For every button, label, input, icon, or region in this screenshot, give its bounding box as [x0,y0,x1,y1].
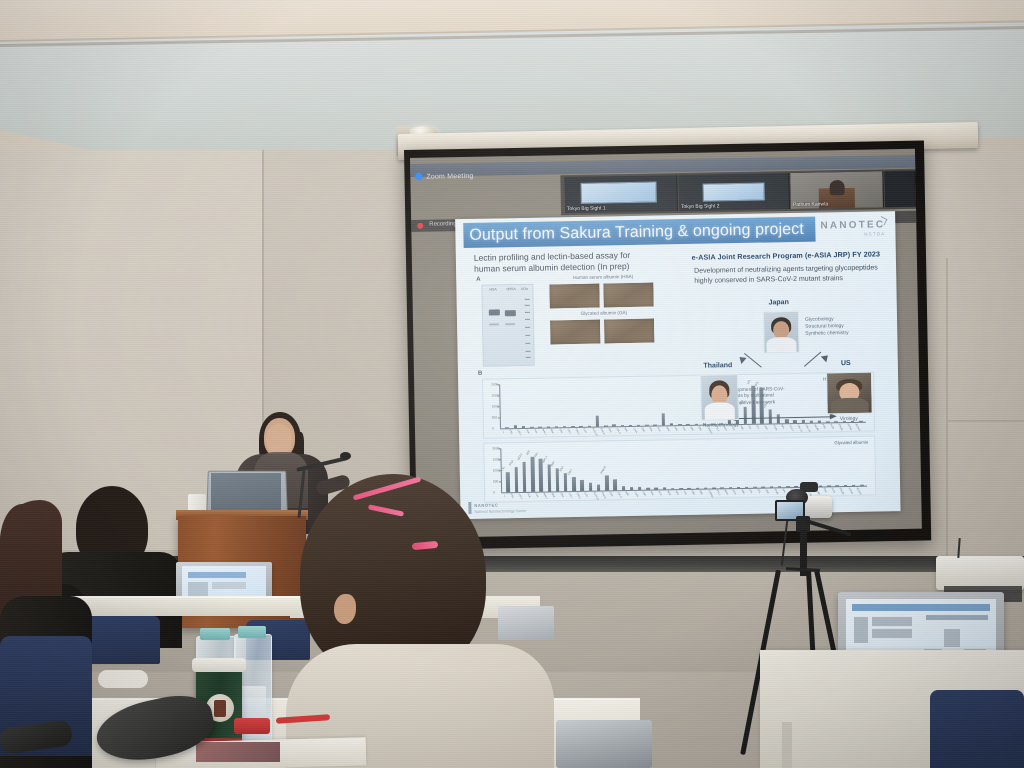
zoom-app-icon [415,173,422,180]
ladder-tick [525,343,530,344]
podium-laptop-screen [211,473,281,512]
bar [580,480,584,491]
y-tick-mark [497,384,499,385]
x-tick-label: NPA [624,427,629,433]
bar [645,425,648,426]
wall-seam [946,258,948,558]
x-tick-label: PHA-E [600,492,606,500]
x-tick-label: HHL [650,491,655,497]
x-tick-label: VVA [683,490,688,495]
photo-thailand-researcher [700,374,739,421]
y-tick-mark [497,395,499,396]
y-tick-mark [498,406,500,407]
ladder-tick [525,327,530,328]
microarray-group-title: Human serum albumin (HSA) [548,273,658,280]
microarray-panel [603,318,655,345]
bar [613,480,617,491]
mini-slide-block [872,629,912,638]
bar [661,413,665,425]
y-tick-mark [498,448,500,449]
recording-status-label: Recording [429,221,456,228]
red-desk-item [234,718,270,734]
x-tick-label: GNA [641,491,646,497]
bar [596,416,600,427]
bar [505,427,508,428]
x-tick-label: TJA-I [566,428,571,434]
coffee-cup-lid [192,658,246,672]
bar [579,426,582,427]
x-tick-label: ECA [584,492,589,498]
mini-slide-block [944,629,960,647]
x-tick-label: UEA-I [518,493,524,500]
bar [588,426,591,427]
photo-japan-researcher [763,311,800,354]
chair [84,616,160,664]
bar [514,467,518,492]
bar [564,473,568,491]
x-tick-label: PSA [510,493,515,499]
bar [522,462,526,492]
collaboration-diagram: Japan Glycobiology Structural biology Sy… [689,297,891,501]
y-tick-mark [499,481,501,482]
slide-footer-accent [468,502,471,514]
mini-slide-title-band [852,604,990,611]
bar [646,488,649,490]
us-expertise-caption: Virology [819,415,879,422]
mini-slide-on-screen [188,572,246,578]
bar [538,427,541,428]
video-tile[interactable]: Tokyo Big Sight 2 [678,173,790,211]
x-tick-label: PHA-L [574,428,580,436]
x-tick-label: UEA-I [517,429,523,436]
x-tick-label: SNA [551,492,556,498]
presenter-face [266,424,292,455]
shoulders [704,402,735,419]
x-tick-label: LTL [504,493,506,498]
bar [655,488,658,490]
arrow-thailand-us [735,416,831,419]
bar [679,488,682,489]
bar [571,426,574,427]
video-participant-filmstrip: Tokyo Big Sight 1 Tokyo Big Sight 2 Path… [560,169,916,215]
x-tick-label: ECA [583,428,588,434]
projector [936,556,1024,590]
bullet-item: Synthetic chemistry [805,329,877,337]
table-leg [782,722,792,768]
x-tick-label: DSA [608,491,613,497]
x-tick-label: RCA120 [592,492,599,501]
presentation-slide: Output from Sakura Training & ongoing pr… [455,211,900,519]
photo-us-researcher [826,372,873,415]
bar [605,475,609,490]
ladder-tick [525,319,530,320]
x-tick-label: ACA [658,490,663,496]
country-label-japan: Japan [751,299,807,307]
bar [671,488,674,489]
bar [630,487,634,490]
ladder-tick [525,312,530,313]
country-label-thailand: Thailand [690,362,746,370]
ladder-tick [526,357,531,358]
bar-value-label: SNA [550,460,556,467]
bottle-cap [200,628,230,640]
bar [555,427,558,428]
printed-photo [196,742,280,762]
bar [572,477,576,491]
shoulders [831,397,869,413]
bar-value-label: TJA-I [566,468,573,476]
nanotec-wordmark: NANOTEC [820,219,885,231]
gel-electrophoresis-image: HSA dHSA kDa [481,284,534,367]
bar [531,457,535,492]
bar-value-label: PSA [508,459,514,466]
shared-screen-thumb [580,182,656,204]
slide-footer-tagline: National Nanotechnology Center [474,509,526,514]
x-tick-label: SNA [550,428,555,434]
microarray-panel [548,283,600,310]
bar [678,424,681,425]
x-tick-label: ACA [657,426,662,432]
bar [530,427,533,428]
bottle-cap [238,626,266,638]
microarray-panel [602,282,654,309]
x-tick-label: LTL [503,429,505,434]
bar [506,472,510,492]
y-tick-label: 0 [493,491,495,495]
foreground-laptop[interactable] [556,720,652,768]
bar [622,486,626,490]
mini-slide-block [212,582,246,589]
bar [620,425,623,426]
speaker-in-feed [829,180,845,195]
x-tick-label: AAL [534,493,539,498]
mini-slide-block [872,617,912,626]
bar [597,485,601,491]
bar [653,425,656,426]
ladder-tick [526,351,531,352]
bar-value-label: AOL [525,449,531,456]
mini-slide-block [926,615,988,620]
easia-program-title: e-ASIA Joint Research Program (e-ASIA JR… [688,249,884,262]
bar [589,483,593,491]
x-tick-label: GNA [640,427,645,433]
bar [629,425,632,426]
projection-screen-surface: Zoom Meeting Tokyo Big Sight 1 Tokyo Big… [410,149,922,538]
y-tick-mark [499,459,501,460]
gel-ladder-unit: kDa [521,287,527,291]
shared-screen-thumb [703,182,765,202]
bar [522,426,525,428]
gel-band-faint [505,323,515,325]
x-tick-label: NPA [625,491,630,497]
bar [514,425,518,428]
country-label-us: US [818,360,874,368]
gel-lane-label: dHSA [506,287,515,291]
bar [687,488,690,489]
x-tick-label: ConA [633,491,639,498]
left-column-heading: Lectin profiling and lectin-based assay … [474,249,674,275]
x-tick-label: ConA [632,427,638,434]
panel-b-label: B [478,371,482,377]
x-tick-label: VVA [681,426,686,431]
x-tick-label: HHL [648,427,653,433]
x-tick-label: RCA120 [591,428,598,437]
bar [637,425,640,426]
gel-band-faint [489,323,499,325]
x-tick-label: MAL-I [541,429,547,436]
bar-value-label: MAL-I [541,455,548,463]
microphone-head [340,452,351,460]
conference-room-photo: Zoom Meeting Tokyo Big Sight 1 Tokyo Big… [0,0,1024,768]
x-tick-label: PHA-E [599,428,605,436]
project-description: Development of neutralizing agents targe… [694,263,882,285]
microarray-panel [549,319,601,346]
bar-value-label: AAL [533,451,539,458]
y-tick-mark [499,470,501,471]
x-tick-label: DSA [607,427,612,433]
bar [638,487,642,490]
x-tick-label: HPA [673,426,678,432]
y-tick-label: 0 [492,427,494,431]
panel-a-label: A [476,277,480,283]
zoom-window-title: Zoom Meeting [426,170,546,183]
participant-name: Tokyo Big Sight 2 [681,203,720,210]
bar [670,423,673,425]
bar [555,468,559,491]
wall-seam [948,420,1024,422]
japan-expertise-bullets: Glycobiology Structural biology Syntheti… [805,315,877,337]
mini-slide-block [854,617,868,643]
ladder-tick [525,305,530,306]
x-tick-label: MAL-I [543,493,549,500]
thailand-expertise-caption: Nanotechnology [691,422,751,429]
left-heading-line2: human serum albumin detection (In prep) [474,260,674,275]
x-tick-label: GSL-II [617,491,623,499]
video-tile-empty[interactable] [884,171,916,208]
x-tick-label: MPA [665,426,670,432]
bar [686,424,689,425]
x-tick-label: AOL [526,493,531,499]
gel-lane-label: HSA [489,287,496,291]
bar [563,426,566,427]
x-tick-label: PHA-L [576,492,582,500]
bar [663,488,666,490]
slide-footer-org: NANOTEC [474,502,498,507]
desk-item-white [98,670,148,688]
bar-value-label: UEA-I [517,453,524,461]
participant-name: Pathum Kaewta [793,201,828,208]
laptop-far-right[interactable] [498,606,554,640]
y-tick-label: 500 [492,415,497,419]
x-tick-label: SSA [559,492,564,498]
ladder-tick [525,299,530,300]
bar [546,427,549,428]
y-tick-label: 500 [493,479,498,483]
ladder-tick [525,335,530,336]
gel-band [505,310,516,316]
recording-indicator-icon [417,223,423,229]
x-tick-label: HPA [674,490,679,496]
x-tick-label: TJA-I [567,492,572,498]
nanotec-sub-wordmark: NSTDA [821,231,886,237]
gel-band [489,309,500,315]
video-tile[interactable]: Pathum Kaewta [790,171,884,209]
arrow-japan-thailand [744,353,762,368]
x-tick-label: SSA [558,428,563,434]
x-tick-label: GSL-II [616,427,622,435]
shoulders [767,337,797,353]
foreground-person-ear [334,594,356,624]
x-tick-label: PSA [509,429,514,435]
participant-name: Tokyo Big Sight 1 [567,205,606,212]
bar [604,425,607,426]
y-tick-mark [498,417,500,418]
x-tick-label: AOL [525,429,530,435]
video-tile[interactable]: Tokyo Big Sight 1 [564,175,678,213]
microarray-group-title: Glycated albumin (GA) [549,309,659,316]
coffee-cup-logo-mark [214,700,226,717]
bar [612,425,615,427]
bar [539,459,543,492]
x-tick-label: AAL [533,429,538,434]
nanotec-logo: NANOTEC NSTDA [820,219,885,237]
chair [930,690,1024,768]
x-tick-label: MPA [666,490,671,496]
bar [547,464,551,492]
bar-value-label: PHA-E [599,465,607,474]
